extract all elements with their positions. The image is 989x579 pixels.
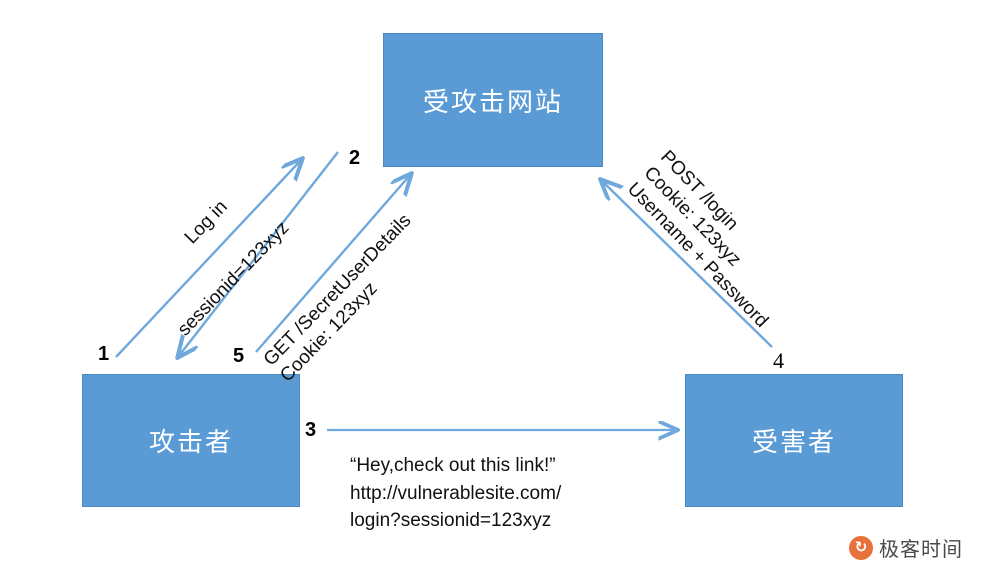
phishing-message-text: “Hey,check out this link!” http://vulner… xyxy=(350,452,561,535)
node-attacked-website-label: 受攻击网站 xyxy=(423,82,563,119)
node-victim-label: 受害者 xyxy=(752,422,836,459)
watermark-label: 极客时间 xyxy=(879,533,963,562)
step-number-4: 4 xyxy=(773,350,784,372)
node-attacked-website: 受攻击网站 xyxy=(383,33,603,167)
step-number-5: 5 xyxy=(233,346,244,366)
geektime-logo-icon: ↻ xyxy=(849,536,873,560)
watermark: ↻ 极客时间 xyxy=(849,533,963,562)
step-number-1: 1 xyxy=(98,344,109,364)
step-number-3: 3 xyxy=(305,420,316,440)
node-attacker-label: 攻击者 xyxy=(149,422,233,459)
arrow-step-1 xyxy=(116,159,302,357)
diagram-canvas: 受攻击网站 攻击者 受害者 1 2 3 4 5 Log in sessionid… xyxy=(0,0,989,579)
node-attacker: 攻击者 xyxy=(82,374,300,507)
step-number-2: 2 xyxy=(349,148,360,168)
node-victim: 受害者 xyxy=(685,374,903,507)
